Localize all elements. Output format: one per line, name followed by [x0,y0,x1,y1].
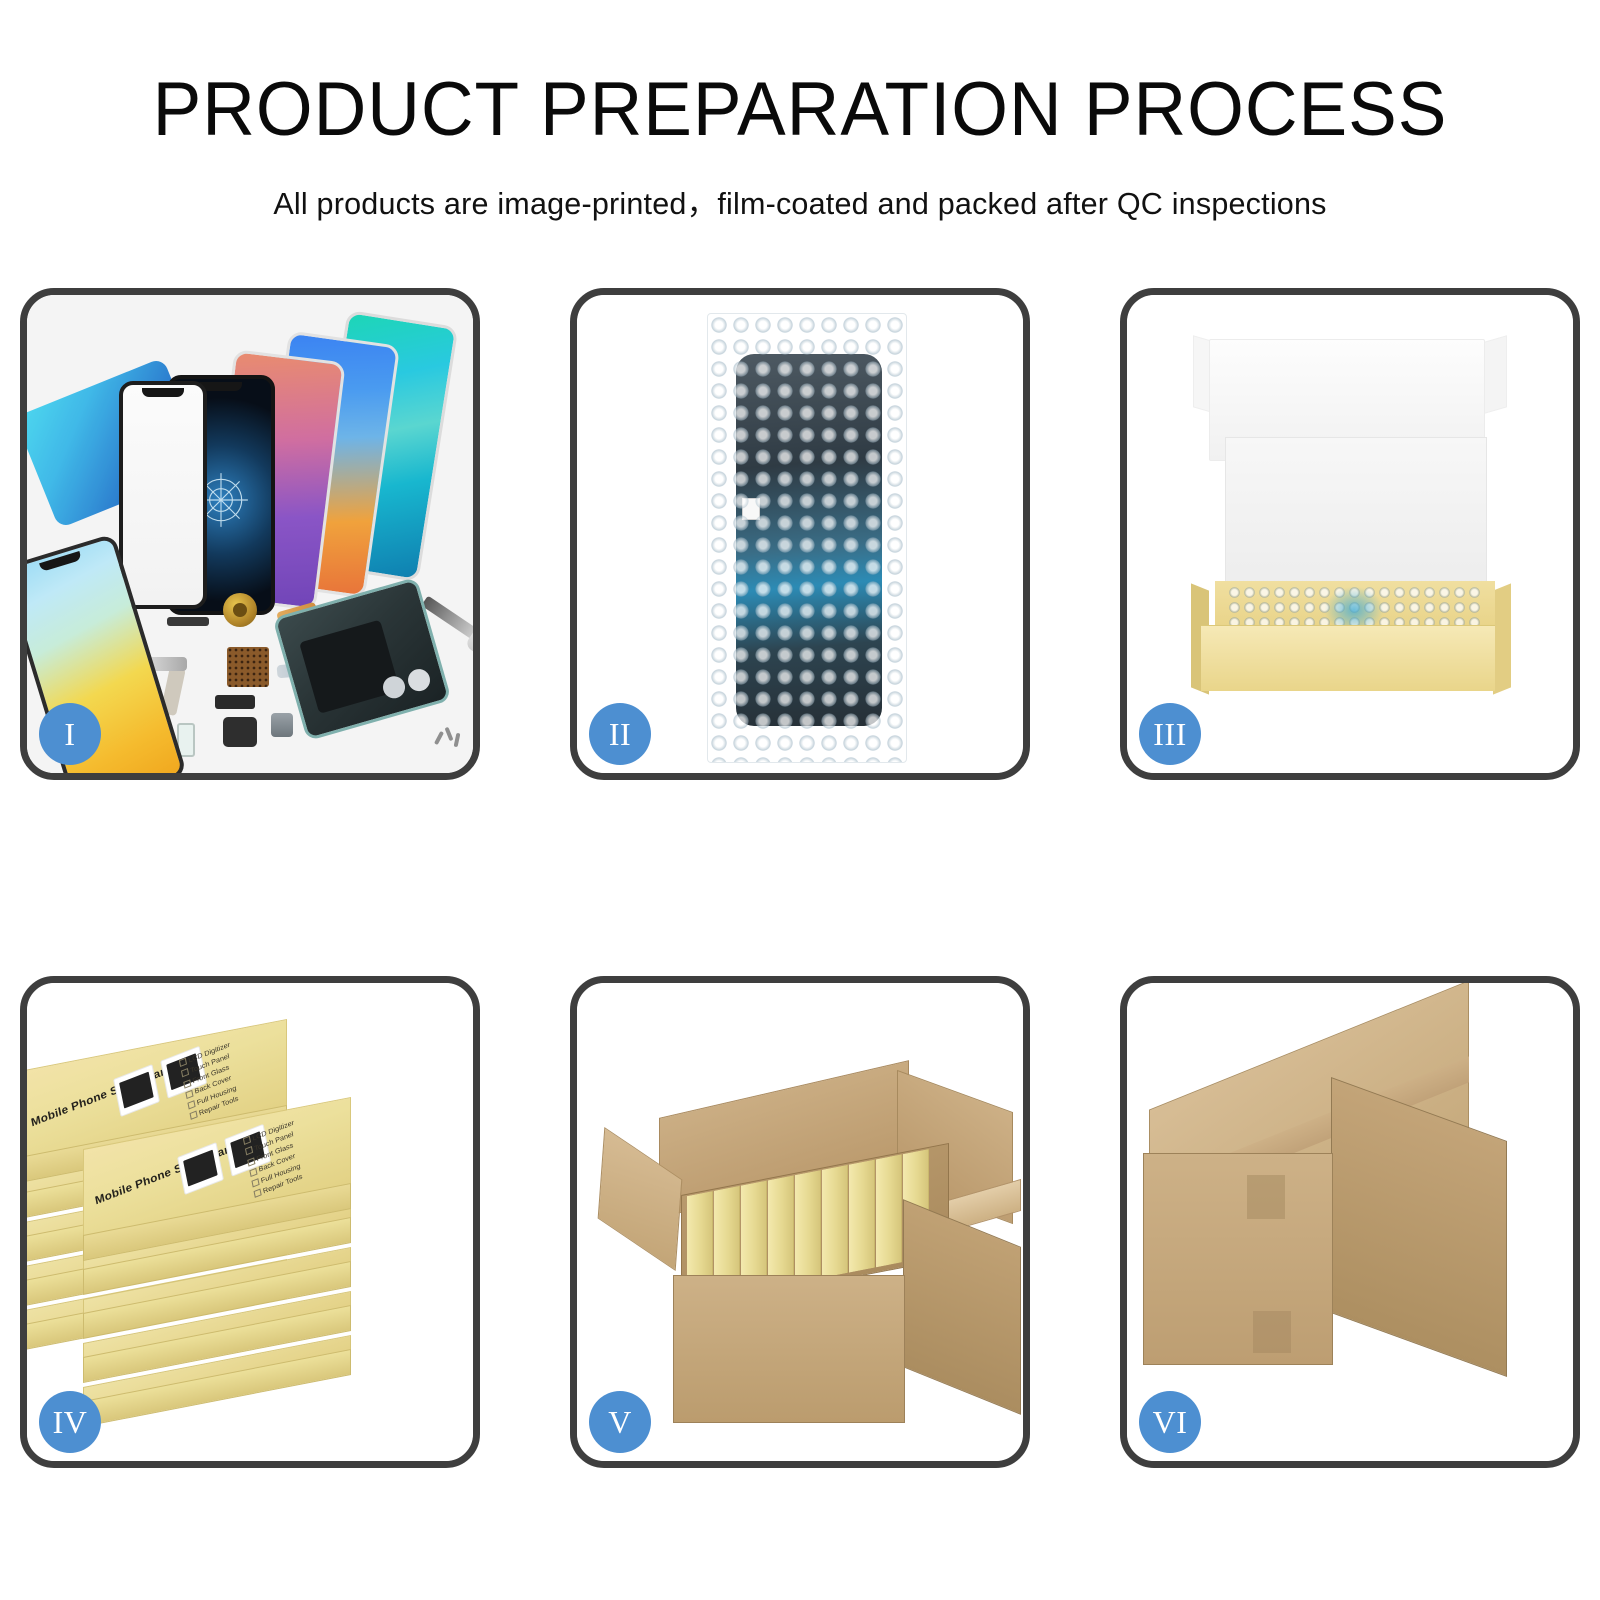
step-panel-4: Mobile Phone Spare Parts LCD Digitizer T… [20,976,480,1468]
product-preparation-page: PRODUCT PREPARATION PROCESS All products… [0,0,1600,1600]
bubble-wrap-overlay-icon [708,314,906,762]
step-5-image [577,983,1023,1461]
step-3-image [1127,295,1573,773]
camera-module-icon [223,717,257,747]
step-panel-3: III [1120,288,1580,780]
step-panel-5: V [570,976,1030,1468]
step-panel-2: II [570,288,1030,780]
mailer-box-back-wall [1225,437,1487,589]
step-4-image: Mobile Phone Spare Parts LCD Digitizer T… [27,983,473,1461]
front-glass-panel [119,381,207,609]
speaker-module-icon [223,593,257,627]
step-panel-6: VI [1120,976,1580,1468]
step-6-image [1127,983,1573,1461]
carton-front-face [673,1275,905,1423]
step-1-image [27,295,473,773]
sealed-carton-front-face [1143,1153,1333,1365]
step-badge-6: VI [1139,1391,1201,1453]
carton-seam-tab-bottom [1253,1311,1291,1353]
process-steps-grid: I II [20,288,1580,1448]
step-badge-5: V [589,1391,651,1453]
page-header: PRODUCT PREPARATION PROCESS All products… [0,0,1600,223]
carton-seam-tab-top [1247,1175,1285,1219]
carton-side-face [903,1199,1021,1415]
step-badge-4: IV [39,1391,101,1453]
step-badge-3: III [1139,703,1201,765]
step-badge-2: II [589,703,651,765]
mailer-box-front-face [1201,625,1495,691]
bubble-wrap-sheet [707,313,907,763]
sealed-carton-side-face [1331,1077,1507,1377]
front-camera-icon [271,713,293,737]
ic-chip-icon [227,647,269,687]
step-badge-1: I [39,703,101,765]
page-subtitle: All products are image-printed，film-coat… [12,178,1588,223]
step-panel-1: I [20,288,480,780]
step-2-image [577,295,1023,773]
retail-box-checklist-front: LCD Digitizer Touch Panel Front Glass Ba… [242,1101,345,1199]
retail-box-checklist-rear: LCD Digitizer Touch Panel Front Glass Ba… [178,1023,281,1121]
page-title: PRODUCT PREPARATION PROCESS [32,72,1568,148]
screws-icon [435,727,463,749]
black-chip-icon [215,695,255,709]
ribbon-cable-icon [167,617,209,626]
